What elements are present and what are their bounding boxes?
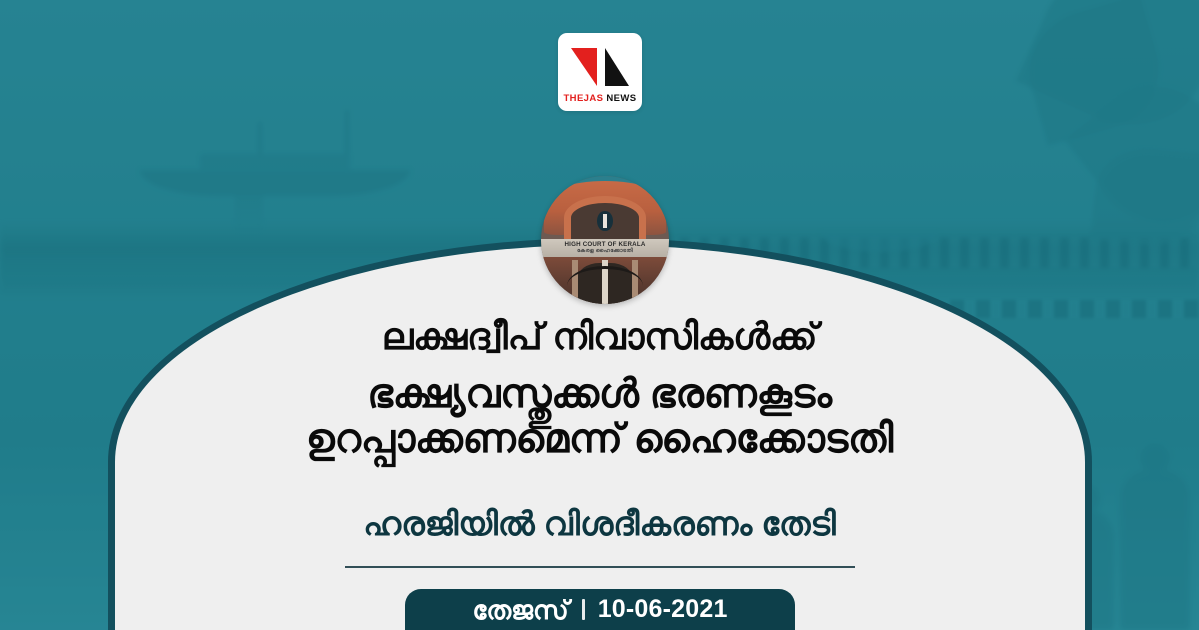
headline-line-1: ലക്ഷദ്വീപ് നിവാസികള്‍ക്ക് bbox=[0, 318, 1199, 374]
court-sign-line-2: കേരള ഹൈക്കോടതി bbox=[541, 248, 669, 255]
footer-separator bbox=[582, 599, 585, 620]
kerala-high-court-photo: HIGH COURT OF KERALA കേരള ഹൈക്കോടതി bbox=[541, 176, 669, 304]
logo-triangles-icon bbox=[569, 46, 631, 90]
logo-wordmark: THEJAS NEWS bbox=[563, 94, 636, 104]
headline-line-3: ഉറപ്പാക്കണമെന്ന് ഹൈക്കോടതി bbox=[0, 419, 1199, 459]
publication-date: 10-06-2021 bbox=[598, 597, 728, 622]
headline-line-2: ഭക്ഷ്യവസ്തുക്കള്‍ ഭരണകൂടം bbox=[0, 374, 1199, 419]
logo-word-news: NEWS bbox=[603, 93, 636, 104]
subheading-divider bbox=[345, 566, 855, 568]
subheading: ഹരജിയില്‍ വിശദീകരണം തേടി bbox=[0, 505, 1199, 544]
court-sign-line-1: HIGH COURT OF KERALA bbox=[541, 241, 669, 248]
headline: ലക്ഷദ്വീപ് നിവാസികള്‍ക്ക് ഭക്ഷ്യവസ്തുക്ക… bbox=[0, 318, 1199, 459]
logo-word-thejas: THEJAS bbox=[563, 93, 603, 104]
thejas-news-logo: THEJAS NEWS bbox=[558, 33, 642, 111]
publication-name: തേജസ് bbox=[472, 597, 568, 623]
court-emblem-icon bbox=[597, 211, 612, 231]
footer-brand-bar: തേജസ് 10-06-2021 bbox=[405, 589, 795, 630]
news-graphic-canvas: THEJAS NEWS HIGH COURT OF KERALA കേരള ഹൈ… bbox=[0, 0, 1199, 630]
court-signboard: HIGH COURT OF KERALA കേരള ഹൈക്കോടതി bbox=[541, 239, 669, 257]
